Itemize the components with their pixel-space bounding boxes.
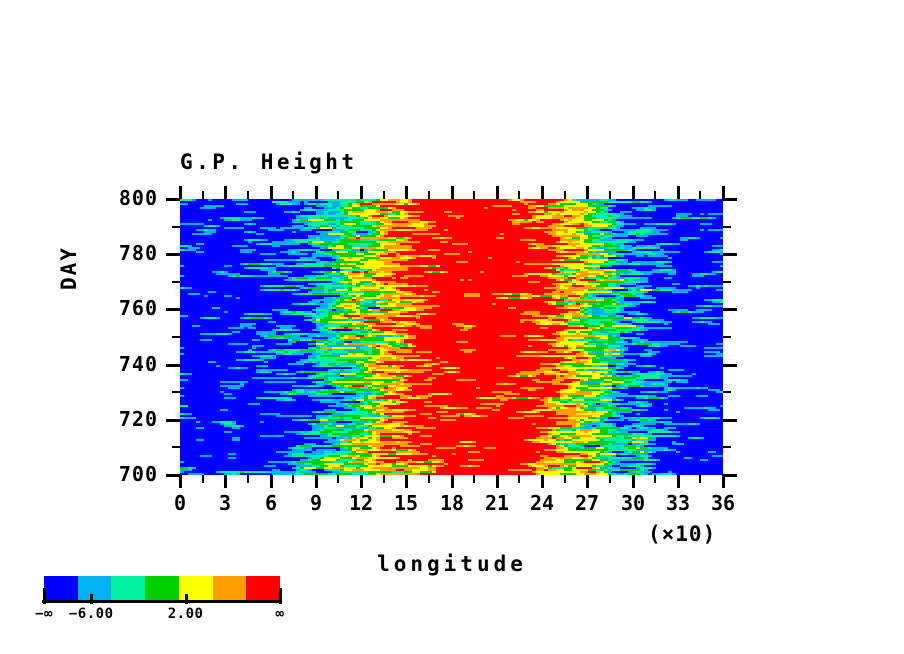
x-tick-minor bbox=[699, 475, 701, 483]
colorbar-tick bbox=[279, 588, 282, 604]
colorbar-swatch-6 bbox=[246, 576, 280, 602]
x-tick-major bbox=[677, 186, 680, 199]
x-tick-minor bbox=[518, 191, 520, 199]
y-tick-minor bbox=[172, 391, 180, 393]
x-tick-major bbox=[224, 475, 227, 488]
x-tick-major bbox=[632, 475, 635, 488]
y-tick-minor bbox=[723, 336, 731, 338]
y-tick-minor bbox=[723, 391, 731, 393]
colorbar bbox=[44, 576, 280, 602]
y-tick-major bbox=[723, 474, 737, 477]
y-tick-major bbox=[723, 419, 737, 422]
x-tick-minor bbox=[564, 191, 566, 199]
x-tick-minor bbox=[247, 475, 249, 483]
y-tick-minor bbox=[723, 446, 731, 448]
y-tick-minor bbox=[172, 281, 180, 283]
y-tick-minor bbox=[723, 226, 731, 228]
x-tick-major bbox=[451, 186, 454, 199]
colorbar-tick bbox=[185, 594, 188, 604]
y-tick-minor bbox=[172, 336, 180, 338]
x-tick-minor bbox=[428, 475, 430, 483]
y-tick-major bbox=[166, 253, 180, 256]
x-tick-minor bbox=[202, 191, 204, 199]
x-tick-major bbox=[315, 475, 318, 488]
y-tick-major bbox=[166, 419, 180, 422]
colorbar-tick bbox=[90, 594, 93, 604]
x-tick-major bbox=[586, 186, 589, 199]
y-axis-title: DAY bbox=[57, 246, 81, 290]
colorbar-swatch-2 bbox=[111, 576, 145, 602]
page-title: G.P. Height bbox=[180, 150, 358, 174]
x-tick-major bbox=[405, 475, 408, 488]
y-tick-major bbox=[166, 198, 180, 201]
x-tick-minor bbox=[564, 475, 566, 483]
x-tick-minor bbox=[609, 191, 611, 199]
x-tick-minor bbox=[202, 475, 204, 483]
y-tick-minor bbox=[172, 446, 180, 448]
colorbar-swatch-1 bbox=[78, 576, 112, 602]
x-tick-major bbox=[496, 186, 499, 199]
colorbar-tick bbox=[43, 588, 46, 604]
x-tick-major bbox=[451, 475, 454, 488]
x-tick-major bbox=[360, 186, 363, 199]
colorbar-baseline bbox=[42, 600, 282, 603]
x-tick-minor bbox=[473, 191, 475, 199]
x-tick-major bbox=[632, 186, 635, 199]
x-tick-major bbox=[224, 186, 227, 199]
colorbar-swatch-5 bbox=[213, 576, 247, 602]
x-tick-major bbox=[315, 186, 318, 199]
x-tick-minor bbox=[473, 475, 475, 483]
x-tick-minor bbox=[428, 191, 430, 199]
x-tick-major bbox=[496, 475, 499, 488]
y-tick-major bbox=[723, 253, 737, 256]
x-tick-minor bbox=[337, 475, 339, 483]
y-tick-major bbox=[723, 198, 737, 201]
colorbar-swatch-3 bbox=[145, 576, 179, 602]
colorbar-label: −6.00 bbox=[51, 606, 131, 622]
x-tick-major bbox=[677, 475, 680, 488]
x-tick-major bbox=[541, 475, 544, 488]
x-tick-minor bbox=[337, 191, 339, 199]
y-tick-minor bbox=[723, 281, 731, 283]
x-tick-major bbox=[360, 475, 363, 488]
x-tick-minor bbox=[654, 191, 656, 199]
y-tick-label: 740 bbox=[65, 352, 158, 376]
y-tick-label: 800 bbox=[65, 186, 158, 210]
y-tick-major bbox=[723, 308, 737, 311]
y-tick-major bbox=[166, 474, 180, 477]
x-tick-minor bbox=[383, 191, 385, 199]
x-tick-minor bbox=[518, 475, 520, 483]
x-tick-minor bbox=[699, 191, 701, 199]
x-tick-major bbox=[405, 186, 408, 199]
colorbar-label: 2.00 bbox=[146, 606, 226, 622]
heatmap-canvas bbox=[180, 199, 723, 475]
heatmap-plot-area bbox=[180, 199, 723, 475]
x-tick-minor bbox=[292, 475, 294, 483]
y-tick-major bbox=[166, 308, 180, 311]
y-tick-major bbox=[166, 364, 180, 367]
y-tick-minor bbox=[172, 226, 180, 228]
colorbar-label: ∞ bbox=[240, 606, 320, 622]
y-tick-label: 760 bbox=[65, 296, 158, 320]
x-tick-major bbox=[270, 186, 273, 199]
x-axis-multiplier: (×10) bbox=[648, 522, 716, 546]
x-tick-major bbox=[586, 475, 589, 488]
y-tick-major bbox=[723, 364, 737, 367]
y-tick-label: 720 bbox=[65, 407, 158, 431]
x-axis-title: longitude bbox=[0, 552, 904, 576]
x-tick-major bbox=[270, 475, 273, 488]
x-tick-minor bbox=[247, 191, 249, 199]
x-tick-minor bbox=[654, 475, 656, 483]
x-tick-major bbox=[541, 186, 544, 199]
x-tick-minor bbox=[292, 191, 294, 199]
y-tick-label: 700 bbox=[65, 462, 158, 486]
x-tick-minor bbox=[383, 475, 385, 483]
colorbar-swatch-0 bbox=[44, 576, 78, 602]
x-tick-minor bbox=[609, 475, 611, 483]
x-tick-label: 36 bbox=[683, 491, 763, 515]
